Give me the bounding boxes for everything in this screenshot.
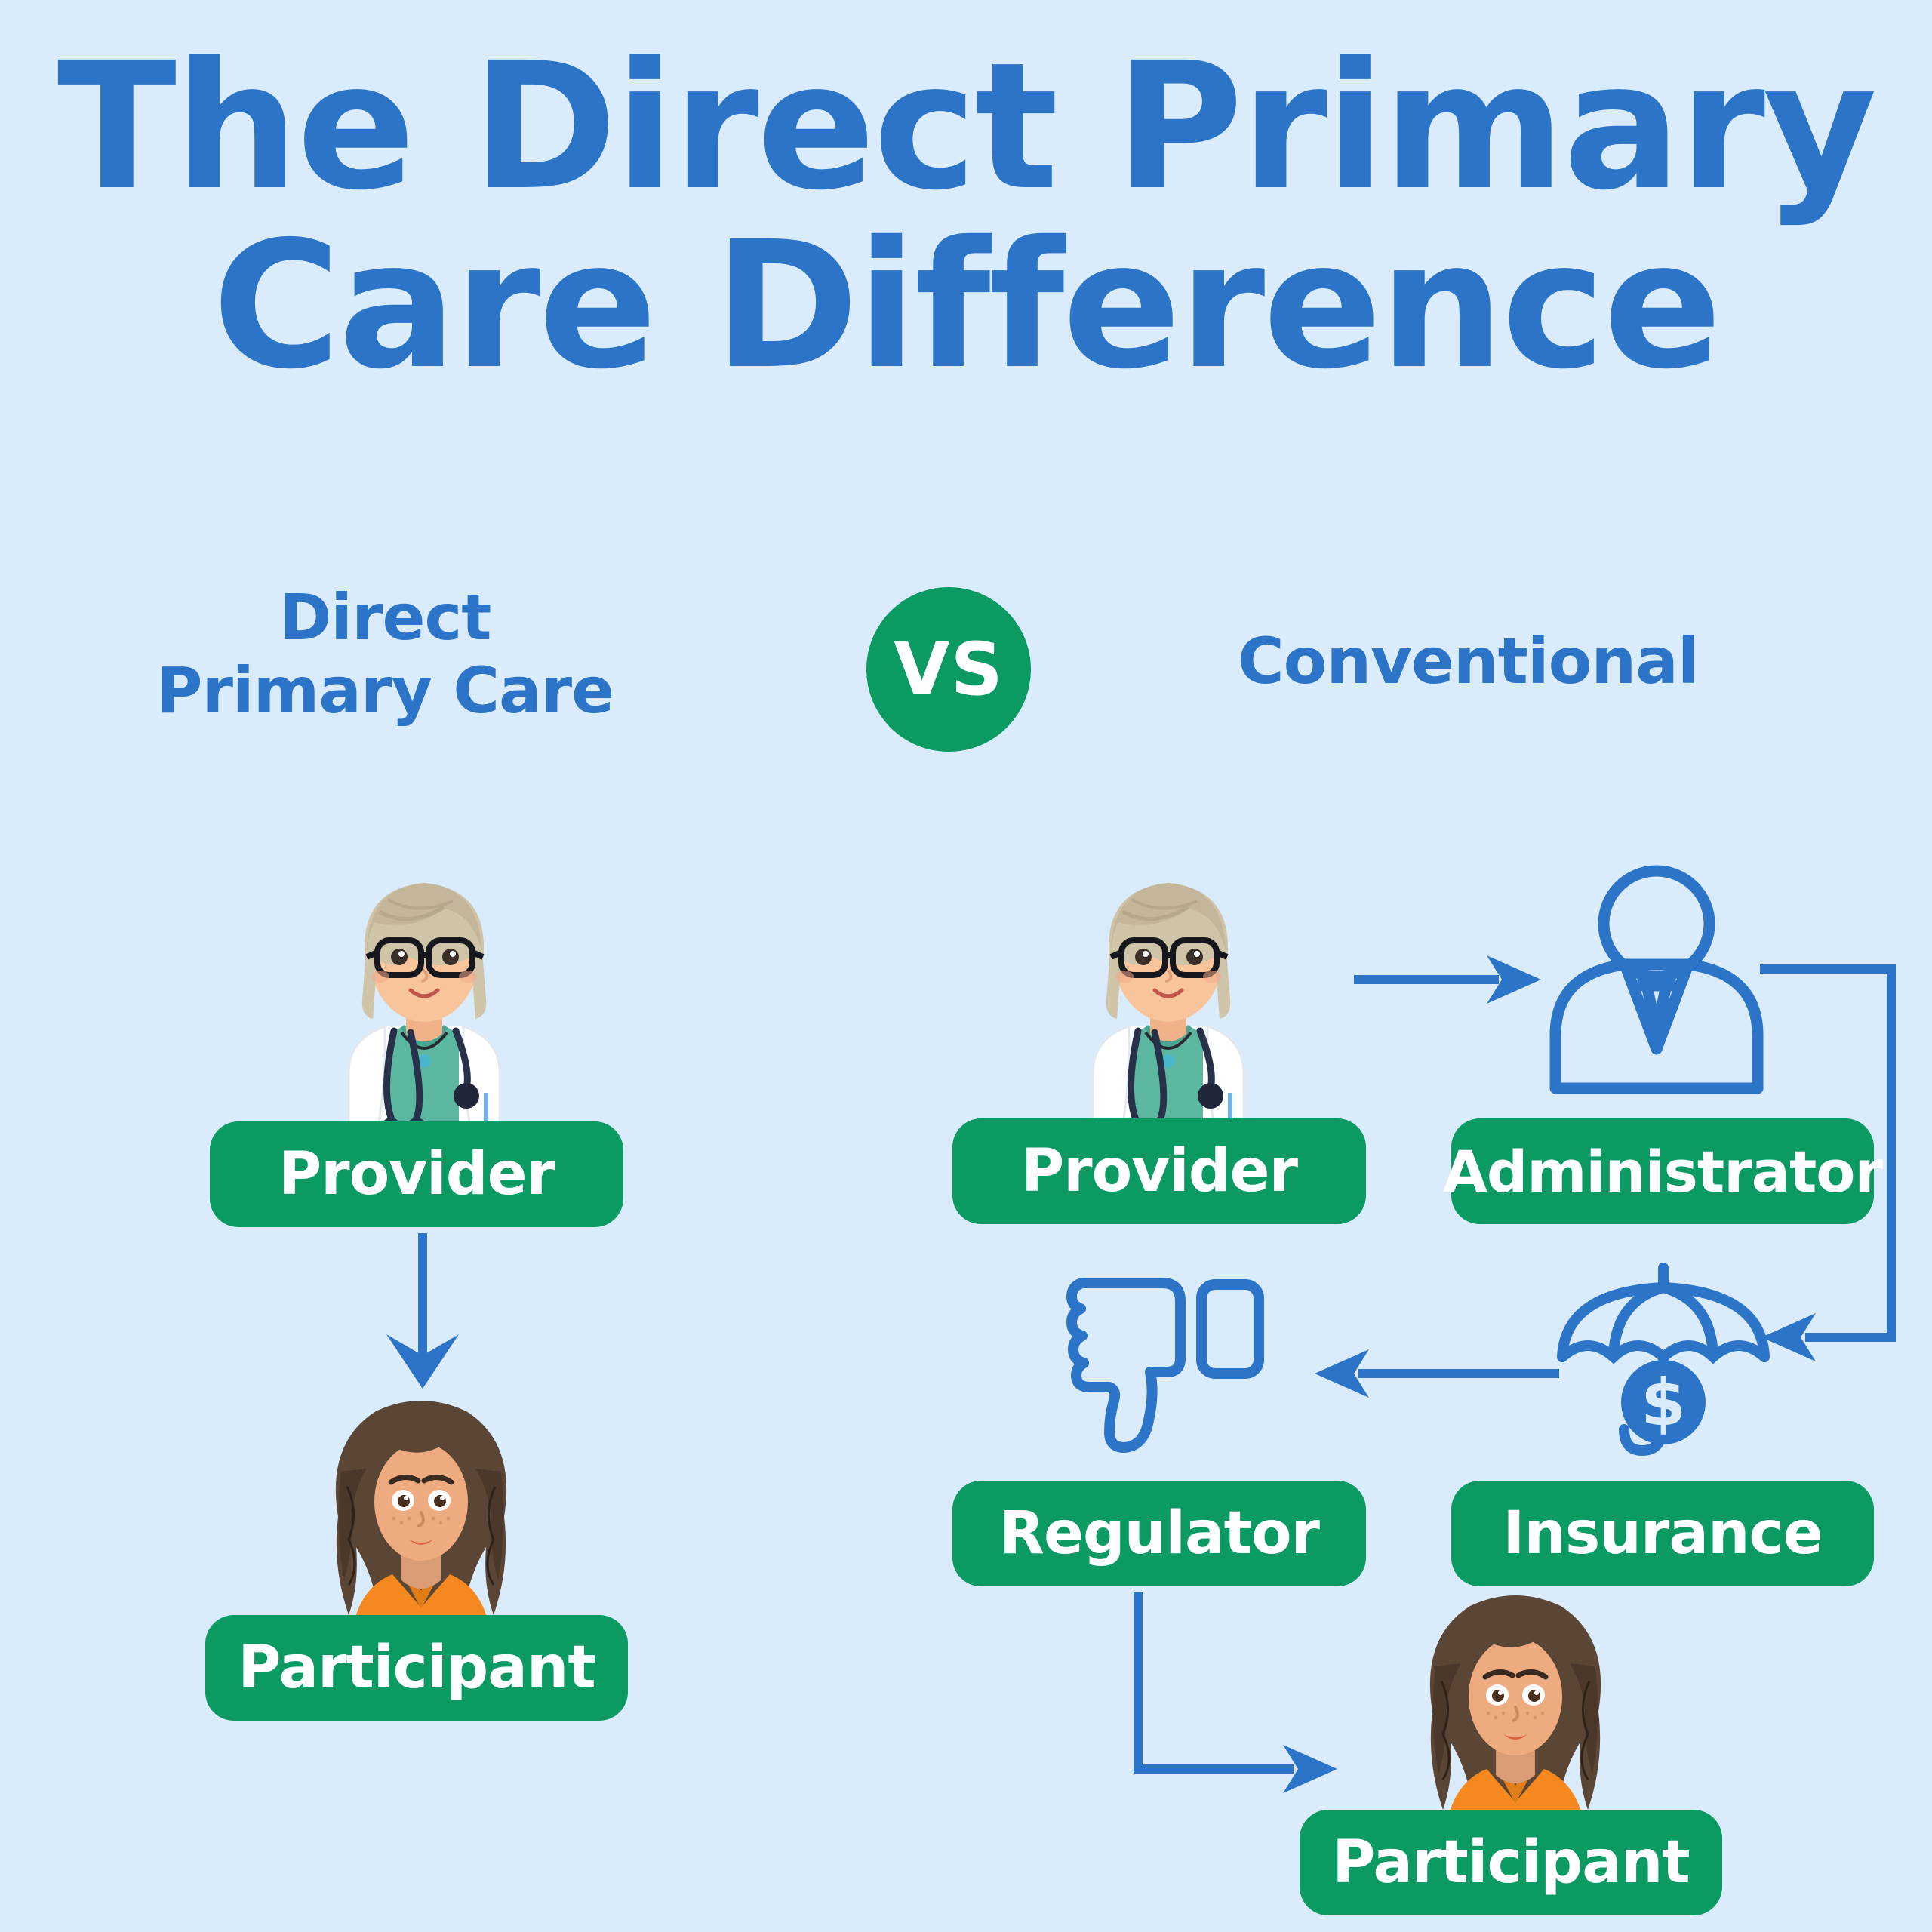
thumbs-down-icon xyxy=(1066,1272,1286,1469)
page-title-line-2: Care Difference xyxy=(0,217,1932,395)
heading-left-line-2: Primary Care xyxy=(156,654,614,728)
female-participant-avatar xyxy=(1402,1583,1629,1840)
heading-conventional: Conventional xyxy=(1238,625,1826,698)
page-title: The Direct Primary Care Difference xyxy=(0,38,1932,395)
infographic-canvas: The Direct Primary Care Difference Direc… xyxy=(0,0,1932,1932)
svg-text:$: $ xyxy=(1641,1365,1686,1441)
vs-label: VS xyxy=(894,627,1003,712)
label-conventional-participant-text: Participant xyxy=(1332,1829,1689,1897)
heading-direct-primary-care: Direct Primary Care xyxy=(91,581,679,728)
label-dpc-participant[interactable]: Participant xyxy=(205,1615,628,1721)
vs-badge: VS xyxy=(866,587,1031,752)
label-dpc-provider[interactable]: Provider xyxy=(210,1121,623,1227)
connector-provider-to-administrator xyxy=(1351,934,1547,1025)
label-dpc-participant-text: Participant xyxy=(238,1634,595,1702)
label-conventional-insurance[interactable]: Insurance xyxy=(1451,1481,1874,1586)
label-conventional-provider[interactable]: Provider xyxy=(952,1118,1366,1224)
connector-insurance-to-regulator xyxy=(1291,1328,1562,1419)
female-participant-avatar xyxy=(308,1389,534,1645)
label-conventional-provider-text: Provider xyxy=(1021,1137,1297,1205)
umbrella-with-dollar-icon: $ xyxy=(1555,1262,1772,1473)
person-with-tie-icon xyxy=(1542,862,1782,1103)
female-doctor-avatar xyxy=(1040,844,1297,1146)
label-conventional-regulator[interactable]: Regulator xyxy=(952,1481,1366,1586)
heading-left-line-1: Direct xyxy=(279,580,491,654)
label-conventional-insurance-text: Insurance xyxy=(1503,1500,1822,1567)
connector-provider-to-participant xyxy=(355,1229,491,1395)
label-conventional-regulator-text: Regulator xyxy=(999,1500,1319,1567)
page-title-line-1: The Direct Primary xyxy=(57,25,1875,229)
label-dpc-provider-text: Provider xyxy=(278,1140,555,1208)
connector-regulator-to-participant xyxy=(1132,1589,1404,1831)
label-conventional-participant[interactable]: Participant xyxy=(1300,1810,1722,1915)
label-conventional-administrator[interactable]: Administrator xyxy=(1451,1118,1874,1224)
label-conventional-administrator-text: Administrator xyxy=(1443,1138,1882,1205)
female-doctor-avatar xyxy=(296,844,552,1146)
